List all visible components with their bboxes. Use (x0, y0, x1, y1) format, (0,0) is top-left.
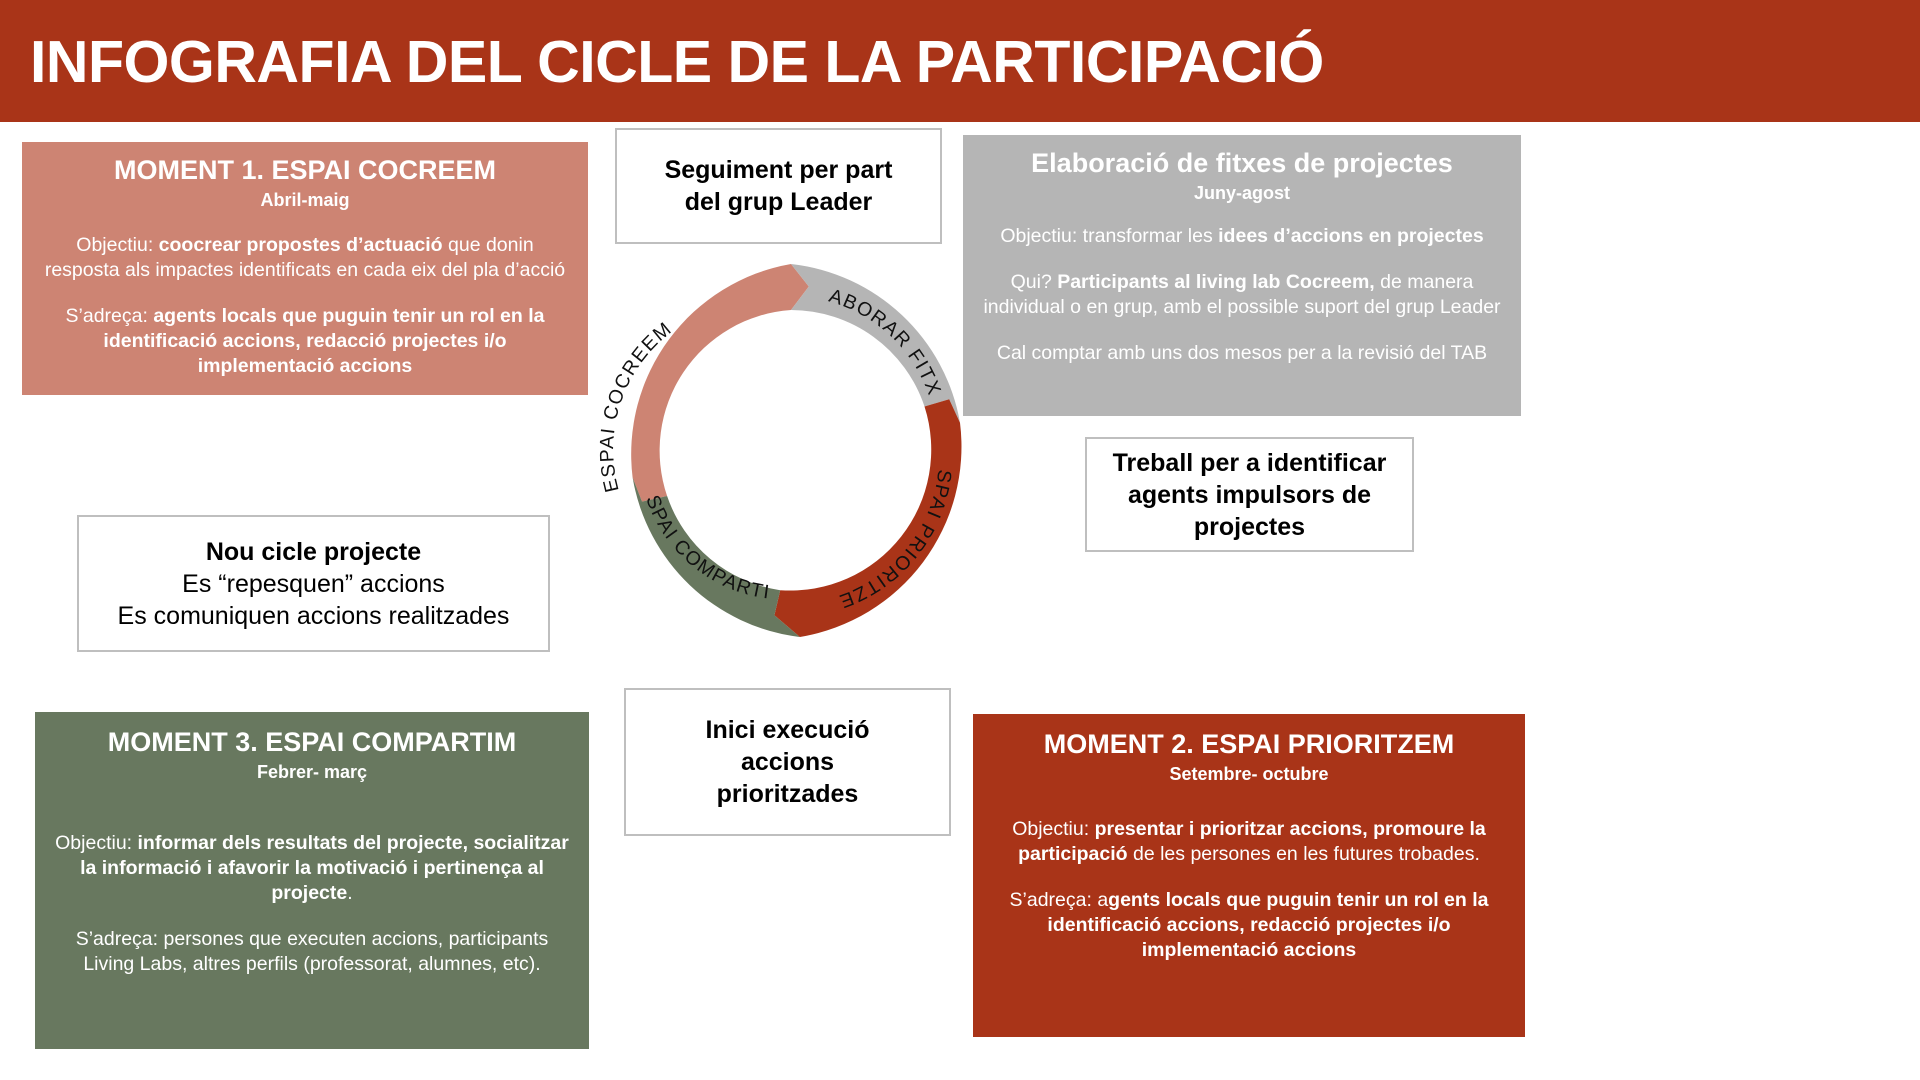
panel-moment-3-title: MOMENT 3. ESPAI COMPARTIM (51, 728, 573, 758)
panel-fitxes-subtitle: Juny-agost (979, 183, 1505, 204)
panel-moment-1-subtitle: Abril-maig (38, 190, 572, 211)
cycle-segment-espai-cocreem (631, 264, 809, 502)
callout-seguiment-grup-leader: Seguiment per partdel grup Leader (615, 128, 942, 244)
callout-nou-cicle-text: Nou cicle projecteEs “repesquen” accions… (108, 536, 520, 632)
panel-moment-2-title: MOMENT 2. ESPAI PRIORITZEM (989, 730, 1509, 760)
cycle-donut-diagram: ESPAI COCREEM ELABORAR FITXES ESPAI PRIO… (598, 258, 984, 644)
panel-moment-1-espai-cocreem: MOMENT 1. ESPAI COCREEM Abril-maig Objec… (22, 142, 588, 395)
panel-moment-3-espai-compartim: MOMENT 3. ESPAI COMPARTIM Febrer- març O… (35, 712, 589, 1049)
panel-fitxes-title: Elaboració de fitxes de projectes (979, 149, 1505, 179)
panel-moment-1-body: Objectiu: coocrear propostes d’actuació … (38, 233, 572, 379)
panel-fitxes-body: Objectiu: transformar les idees d’accion… (979, 224, 1505, 366)
panel-moment-1-title: MOMENT 1. ESPAI COCREEM (38, 156, 572, 186)
callout-nou-cicle-projecte: Nou cicle projecteEs “repesquen” accions… (77, 515, 550, 652)
page-header: INFOGRAFIA DEL CICLE DE LA PARTICIPACIÓ (0, 0, 1920, 122)
panel-moment-3-body: Objectiu: informar dels resultats del pr… (51, 831, 573, 977)
callout-treball-agents-impulsors: Treball per a identificaragents impulsor… (1085, 437, 1414, 552)
panel-moment-3-subtitle: Febrer- març (51, 762, 573, 783)
panel-moment-2-subtitle: Setembre- octubre (989, 764, 1509, 785)
panel-moment-2-espai-prioritzem: MOMENT 2. ESPAI PRIORITZEM Setembre- oct… (973, 714, 1525, 1037)
callout-inici-text: Inici execucióaccionsprioritzades (696, 714, 880, 810)
callout-inici-execucio-accions: Inici execucióaccionsprioritzades (624, 688, 951, 836)
page-title: INFOGRAFIA DEL CICLE DE LA PARTICIPACIÓ (30, 28, 1324, 96)
cycle-segment-elaborar-fitxes (791, 264, 960, 423)
infographic-page: INFOGRAFIA DEL CICLE DE LA PARTICIPACIÓ … (0, 0, 1920, 1080)
callout-treball-text: Treball per a identificaragents impulsor… (1103, 447, 1397, 543)
panel-elaboracio-fitxes: Elaboració de fitxes de projectes Juny-a… (963, 135, 1521, 416)
panel-moment-2-body: Objectiu: presentar i prioritzar accions… (989, 817, 1509, 963)
callout-seguiment-text: Seguiment per partdel grup Leader (655, 154, 903, 218)
